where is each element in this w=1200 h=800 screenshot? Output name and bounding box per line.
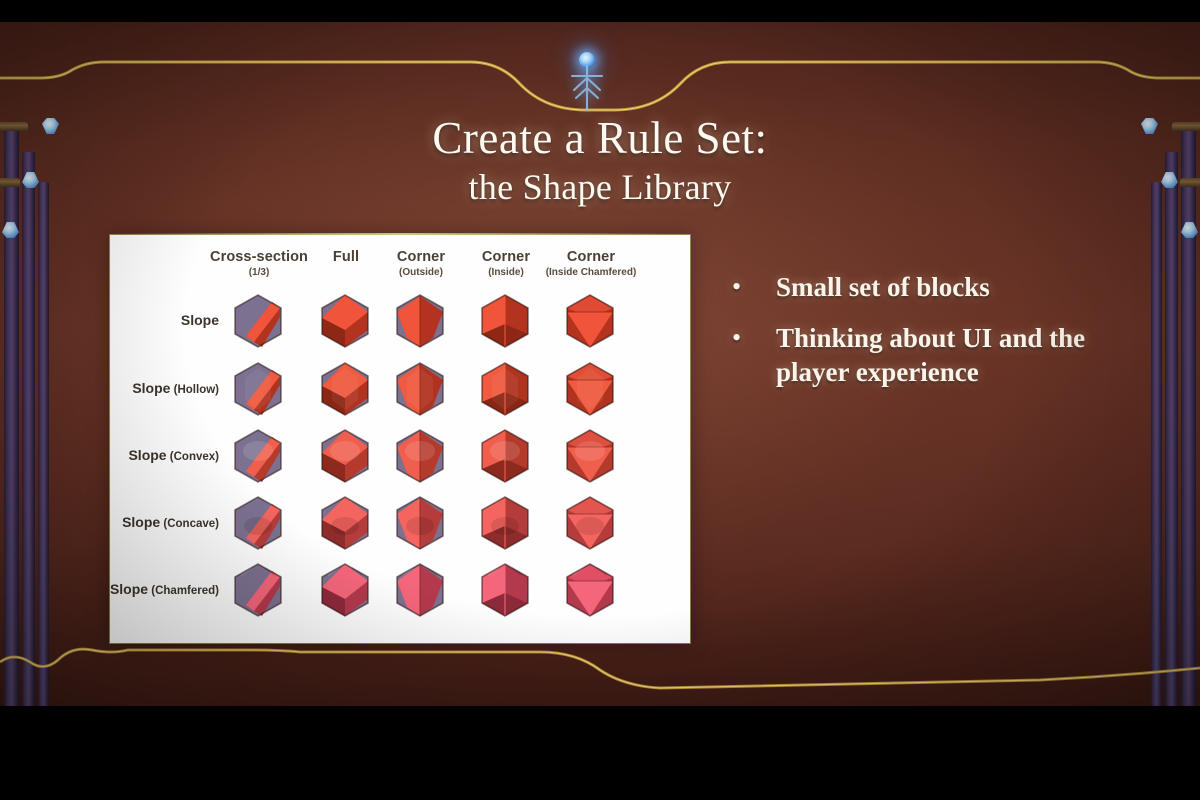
column-header-qualifier: (Inside Chamfered): [540, 266, 642, 279]
shape-cell: [227, 492, 289, 554]
block-shape-icon: [389, 559, 451, 621]
row-header-name: Slope: [128, 447, 166, 463]
block-shape-icon: [314, 559, 376, 621]
block-shape-icon: [227, 559, 289, 621]
bullet-marker-icon: •: [726, 270, 776, 304]
presentation-slide: Create a Rule Set: the Shape Library • S…: [0, 22, 1200, 706]
bullet-text: Thinking about UI and the player experie…: [776, 321, 1126, 389]
shape-cell: [559, 290, 621, 352]
letterbox-bottom: [0, 706, 1200, 800]
shape-cell: [559, 358, 621, 420]
block-shape-icon: [314, 358, 376, 420]
slide-title-line-2: the Shape Library: [0, 164, 1200, 210]
block-shape-icon: [559, 358, 621, 420]
screenshot-stage: Create a Rule Set: the Shape Library • S…: [0, 0, 1200, 800]
center-emblem: [563, 52, 611, 114]
shape-cell: [559, 492, 621, 554]
shape-cell: [389, 559, 451, 621]
block-shape-icon: [474, 358, 536, 420]
row-header-name: Slope: [181, 312, 219, 328]
block-shape-icon: [389, 358, 451, 420]
shape-cell: [314, 290, 376, 352]
shape-cell: [559, 559, 621, 621]
row-header-qualifier: (Hollow): [170, 384, 219, 396]
shape-cell: [474, 290, 536, 352]
row-header-qualifier: (Convex): [167, 451, 219, 463]
bullet-text: Small set of blocks: [776, 270, 990, 304]
block-shape-icon: [389, 290, 451, 352]
row-header-qualifier: (Concave): [160, 518, 219, 530]
block-shape-icon: [227, 425, 289, 487]
slide-title-block: Create a Rule Set: the Shape Library: [0, 112, 1200, 210]
block-shape-icon: [559, 559, 621, 621]
block-shape-icon: [227, 290, 289, 352]
shape-cell: [474, 425, 536, 487]
bullet-list: • Small set of blocks • Thinking about U…: [726, 270, 1126, 406]
bullet-item: • Small set of blocks: [726, 270, 1126, 304]
shape-cell: [559, 425, 621, 487]
block-shape-icon: [389, 492, 451, 554]
shape-cell: [314, 559, 376, 621]
shape-library-panel: Cross-section(1/3)FullCorner(Outside)Cor…: [110, 235, 690, 643]
block-shape-icon: [227, 492, 289, 554]
shape-cell: [389, 290, 451, 352]
shape-cell: [389, 425, 451, 487]
block-shape-icon: [314, 492, 376, 554]
shape-cell: [227, 290, 289, 352]
table-header-row: Cross-section(1/3)FullCorner(Outside)Cor…: [110, 249, 690, 293]
block-shape-icon: [474, 492, 536, 554]
column-header-name: Corner: [540, 249, 642, 266]
emblem-glyph-icon: [563, 64, 611, 114]
table-row-header: Slope: [181, 312, 219, 330]
shape-cell: [474, 492, 536, 554]
row-header-name: Slope: [110, 581, 148, 597]
table-row-header: Slope (Hollow): [132, 380, 219, 398]
bullet-item: • Thinking about UI and the player exper…: [726, 321, 1126, 389]
row-header-qualifier: (Chamfered): [148, 585, 219, 597]
block-shape-icon: [474, 290, 536, 352]
shape-cell: [474, 358, 536, 420]
shape-cell: [227, 559, 289, 621]
shape-cell: [389, 358, 451, 420]
block-shape-icon: [474, 559, 536, 621]
table-row-header: Slope (Concave): [122, 514, 219, 532]
row-header-name: Slope: [122, 514, 160, 530]
letterbox-top: [0, 0, 1200, 22]
block-shape-icon: [559, 425, 621, 487]
shape-cell: [314, 492, 376, 554]
shape-cell: [227, 358, 289, 420]
block-shape-icon: [474, 425, 536, 487]
shape-cell: [314, 425, 376, 487]
shape-cell: [474, 559, 536, 621]
block-shape-icon: [314, 290, 376, 352]
slide-title-line-1: Create a Rule Set:: [0, 112, 1200, 164]
table-row-header: Slope (Convex): [128, 447, 219, 465]
shape-cell: [227, 425, 289, 487]
bullet-marker-icon: •: [726, 321, 776, 355]
shape-cell: [314, 358, 376, 420]
block-shape-icon: [559, 492, 621, 554]
table-column-header: Corner(Inside Chamfered): [540, 249, 642, 279]
shape-cell: [389, 492, 451, 554]
block-shape-icon: [227, 358, 289, 420]
block-shape-icon: [389, 425, 451, 487]
block-shape-icon: [559, 290, 621, 352]
column-header-qualifier: (1/3): [208, 266, 310, 279]
block-shape-icon: [314, 425, 376, 487]
row-header-name: Slope: [132, 380, 170, 396]
table-row-header: Slope (Chamfered): [110, 581, 219, 599]
